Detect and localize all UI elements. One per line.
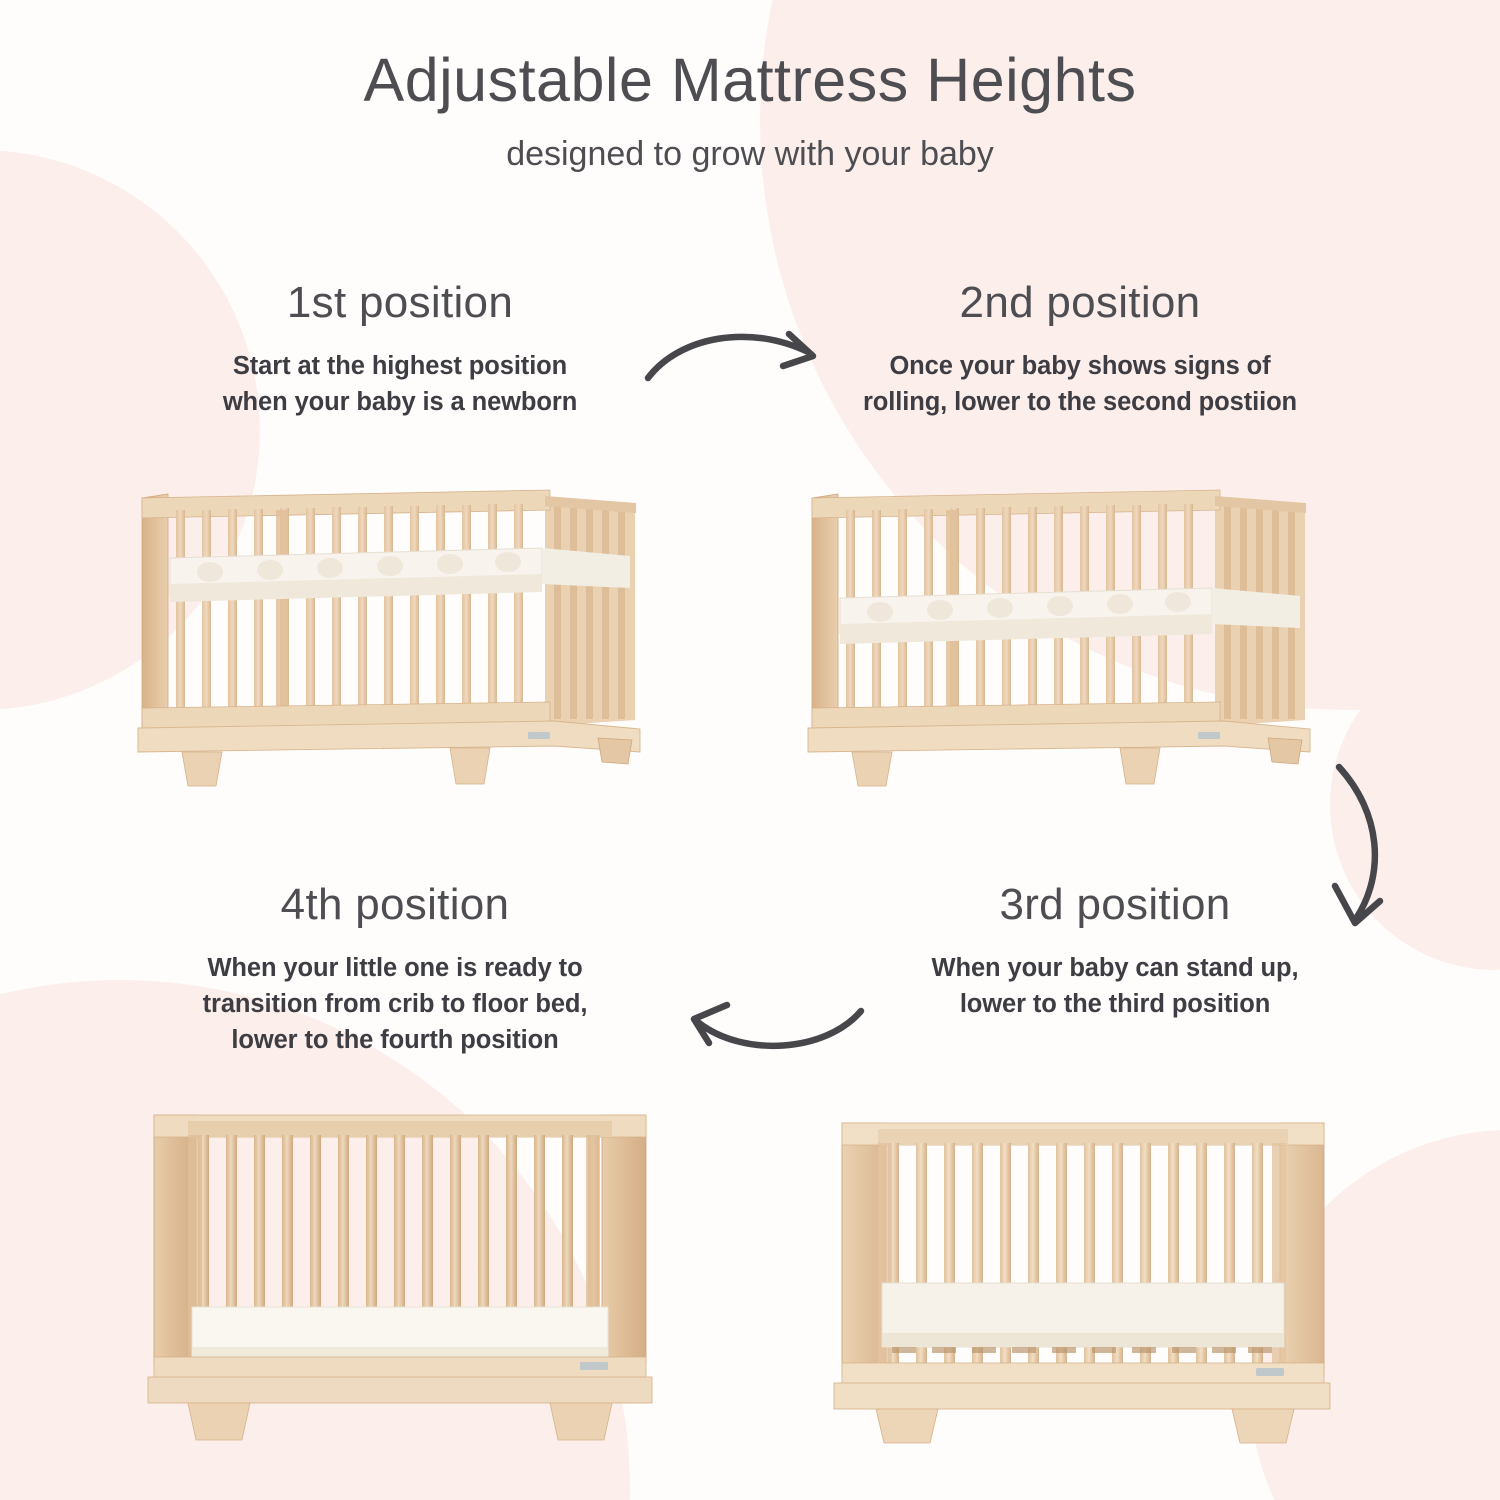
arrow-down-icon <box>1295 755 1415 945</box>
step-3-desc-line: lower to the third position <box>885 986 1345 1022</box>
step-4-desc-line: transition from crib to floor bed, <box>155 986 635 1022</box>
header: Adjustable Mattress Heights designed to … <box>0 45 1500 174</box>
step-2-desc-line: rolling, lower to the second postiion <box>830 384 1330 420</box>
arrow-left-icon <box>665 975 875 1075</box>
page-title: Adjustable Mattress Heights <box>0 45 1500 115</box>
step-2-title: 2nd position <box>830 278 1330 328</box>
step-4-desc-line: When your little one is ready to <box>155 950 635 986</box>
step-3rd-position: 3rd position When your baby can stand up… <box>885 880 1345 1022</box>
step-1-title: 1st position <box>170 278 630 328</box>
step-3-desc-line: When your baby can stand up, <box>885 950 1345 986</box>
step-1-desc-line: when your baby is a newborn <box>170 384 630 420</box>
step-2nd-position: 2nd position Once your baby shows signs … <box>830 278 1330 420</box>
step-4th-position: 4th position When your little one is rea… <box>155 880 635 1059</box>
arrow-right-icon <box>640 318 840 413</box>
step-3-description: When your baby can stand up, lower to th… <box>885 950 1345 1022</box>
step-2-desc-line: Once your baby shows signs of <box>830 348 1330 384</box>
crib-image-3rd-position <box>820 1095 1340 1445</box>
step-3-title: 3rd position <box>885 880 1345 930</box>
infographic-page: Adjustable Mattress Heights designed to … <box>0 0 1500 1500</box>
step-4-title: 4th position <box>155 880 635 930</box>
step-4-description: When your little one is ready to transit… <box>155 950 635 1059</box>
crib-image-4th-position <box>140 1095 660 1445</box>
step-1-description: Start at the highest position when your … <box>170 348 630 420</box>
crib-image-2nd-position <box>800 480 1330 800</box>
crib-image-1st-position <box>130 480 660 800</box>
page-subtitle: designed to grow with your baby <box>0 135 1500 174</box>
step-1st-position: 1st position Start at the highest positi… <box>170 278 630 420</box>
step-4-desc-line: lower to the fourth position <box>155 1022 635 1058</box>
step-1-desc-line: Start at the highest position <box>170 348 630 384</box>
step-2-description: Once your baby shows signs of rolling, l… <box>830 348 1330 420</box>
